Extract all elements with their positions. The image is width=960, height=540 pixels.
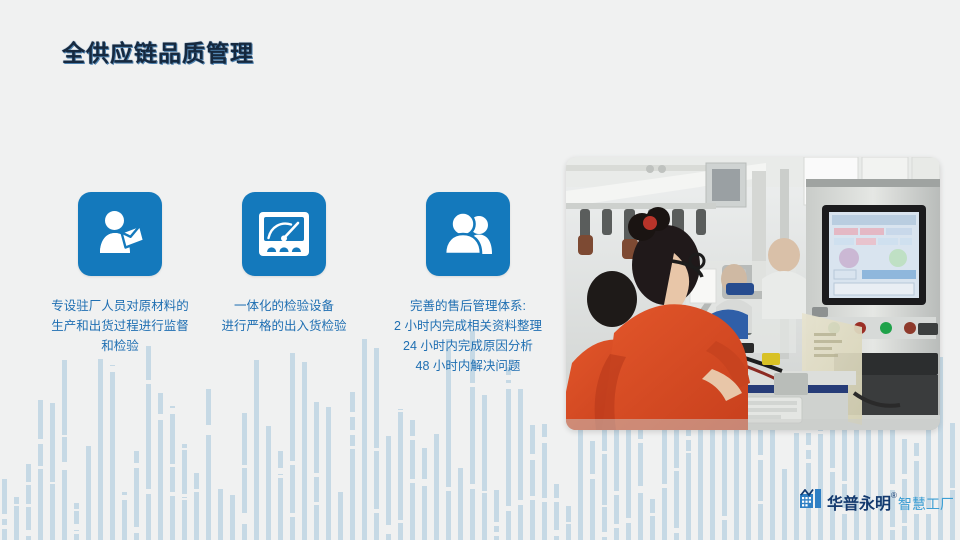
decorative-bar-gap <box>674 468 679 471</box>
registered-mark: ® <box>891 489 897 501</box>
decorative-bar <box>338 492 343 540</box>
decorative-bar-gap <box>494 532 499 536</box>
decorative-bar-gap <box>638 489 643 493</box>
decorative-bar-gap <box>482 491 487 493</box>
decorative-bar <box>398 409 403 540</box>
feature-caption: 一体化的检验设备 进行严格的出入货检验 <box>200 296 368 336</box>
decorative-bar-gap <box>62 465 67 470</box>
decorative-bar-gap <box>446 487 451 491</box>
decorative-bar-gap <box>470 484 475 489</box>
decorative-bar <box>590 441 595 540</box>
decorative-bar <box>386 436 391 540</box>
decorative-bar <box>326 407 331 540</box>
decorative-bar-gap <box>290 461 295 465</box>
decorative-bar-gap <box>506 506 511 511</box>
decorative-bar-gap <box>314 502 319 505</box>
decorative-bar-gap <box>506 383 511 389</box>
decorative-bar-gap <box>170 492 175 496</box>
decorative-bar-gap <box>542 437 547 443</box>
decorative-bar <box>374 348 379 540</box>
gauge-meter-icon <box>242 192 326 276</box>
decorative-bar <box>554 484 559 540</box>
decorative-bar-gap <box>398 520 403 523</box>
decorative-bar-gap <box>422 481 427 485</box>
decorative-bar-gap <box>74 524 79 530</box>
decorative-bar-gap <box>50 482 55 484</box>
huapu-building-mark-icon <box>800 489 822 513</box>
decorative-bar <box>410 420 415 540</box>
decorative-bar <box>578 430 583 540</box>
decorative-bar-gap <box>650 513 655 516</box>
decorative-bar-gap <box>242 513 247 519</box>
feature-caption: 完善的售后管理体系: 2 小时内完成相关资料整理 24 小时内完成原因分析 48… <box>368 296 568 376</box>
decorative-bar <box>242 413 247 540</box>
decorative-bar-gap <box>422 483 427 486</box>
decorative-bar-gap <box>182 498 187 500</box>
decorative-bar-gap <box>206 425 211 430</box>
decorative-bar-gap <box>758 455 763 460</box>
decorative-bar-gap <box>398 410 403 412</box>
decorative-bar <box>62 360 67 540</box>
decorative-bar <box>950 423 955 540</box>
decorative-bar-gap <box>614 524 619 528</box>
decorative-bar <box>170 406 175 540</box>
decorative-bar <box>146 346 151 540</box>
decorative-bar-gap <box>662 484 667 488</box>
decorative-bar-gap <box>542 498 547 502</box>
decorative-bar-gap <box>242 518 247 524</box>
decorative-bar <box>218 489 223 540</box>
decorative-bar <box>314 402 319 540</box>
decorative-bar-gap <box>170 464 175 467</box>
decorative-bar-gap <box>14 504 19 506</box>
decorative-bar-gap <box>638 486 643 489</box>
decorative-bar-gap <box>374 509 379 513</box>
decorative-bar <box>86 446 91 540</box>
decorative-bar <box>530 425 535 540</box>
decorative-bar-gap <box>74 531 79 534</box>
decorative-bar <box>230 495 235 540</box>
decorative-bar-gap <box>470 484 475 488</box>
decorative-bar-gap <box>62 435 67 437</box>
decorative-bar <box>350 392 355 540</box>
decorative-bar-gap <box>842 481 847 484</box>
decorative-bar-gap <box>134 463 139 468</box>
decorative-bar <box>794 433 799 540</box>
decorative-bar-gap <box>626 518 631 523</box>
page-title: 全供应链品质管理 <box>62 34 254 68</box>
decorative-bar <box>638 423 643 540</box>
decorative-bar-gap <box>902 523 907 526</box>
decorative-bar-gap <box>758 501 763 504</box>
decorative-bar-gap <box>830 468 835 472</box>
decorative-bar-gap <box>290 513 295 517</box>
decorative-bar-gap <box>422 479 427 484</box>
decorative-bar-gap <box>602 451 607 454</box>
decorative-bar-gap <box>182 448 187 450</box>
decorative-bar-gap <box>278 468 283 473</box>
brand-name: 华普永明 <box>827 496 891 513</box>
decorative-bar <box>782 469 787 540</box>
decorative-bar-gap <box>374 448 379 451</box>
decorative-bar-gap <box>74 509 79 511</box>
decorative-bar <box>518 389 523 540</box>
two-people-icon <box>426 192 510 276</box>
decorative-bar <box>194 473 199 540</box>
decorative-bar-gap <box>602 505 607 507</box>
decorative-bar-gap <box>314 473 319 477</box>
decorative-bar <box>254 360 259 540</box>
decorative-bar-gap <box>26 504 31 507</box>
decorative-bar-gap <box>242 465 247 468</box>
decorative-bar <box>482 395 487 540</box>
decorative-bar-gap <box>194 489 199 492</box>
decorative-bar <box>158 393 163 540</box>
decorative-bar <box>26 464 31 540</box>
decorative-bar-gap <box>590 474 595 479</box>
decorative-bar-gap <box>554 530 559 535</box>
decorative-bar-gap <box>26 482 31 485</box>
decorative-bar <box>38 400 43 540</box>
person-inspecting-document-icon <box>78 192 162 276</box>
decorative-bar-gap <box>530 458 535 460</box>
decorative-bar-gap <box>554 531 559 536</box>
decorative-bar-gap <box>494 522 499 526</box>
decorative-bar <box>494 490 499 540</box>
decorative-bar-gap <box>182 494 187 497</box>
decorative-bar-gap <box>554 498 559 502</box>
decorative-bar-gap <box>722 516 727 520</box>
decorative-bar <box>302 362 307 540</box>
decorative-bar-gap <box>110 366 115 372</box>
decorative-bar-gap <box>890 527 895 530</box>
decorative-bar-gap <box>350 430 355 435</box>
decorative-bar-gap <box>806 459 811 463</box>
decorative-bar-gap <box>902 474 907 479</box>
decorative-bar-gap <box>614 491 619 495</box>
decorative-bar <box>290 353 295 540</box>
decorative-bar <box>266 426 271 540</box>
decorative-bar-gap <box>386 530 391 534</box>
decorative-bar <box>362 339 367 540</box>
decorative-bar-gap <box>806 445 811 450</box>
decorative-bar-gap <box>62 462 67 465</box>
decorative-bar <box>182 444 187 540</box>
decorative-bar-gap <box>638 439 643 443</box>
decorative-bar-gap <box>386 525 391 530</box>
brand-subtitle: 智慧工厂 <box>898 496 954 513</box>
decorative-bar-gap <box>410 436 415 440</box>
decorative-bar <box>422 448 427 540</box>
decorative-bar-gap <box>410 479 415 483</box>
decorative-bar-gap <box>518 500 523 505</box>
decorative-bar <box>74 503 79 540</box>
slide-canvas: 全供应链品质管理 专设驻厂人员对原材料的 生产和出货过程进行监督 和检验 <box>0 0 960 540</box>
decorative-bar-gap <box>170 408 175 414</box>
decorative-bar-gap <box>386 526 391 532</box>
factory-inspection-photo <box>566 157 940 430</box>
decorative-bar <box>206 389 211 540</box>
decorative-bar-gap <box>2 514 7 519</box>
decorative-bar-gap <box>350 412 355 417</box>
decorative-bar <box>2 479 7 540</box>
decorative-bar-gap <box>686 436 691 440</box>
feature-caption: 专设驻厂人员对原材料的 生产和出货过程进行监督 和检验 <box>18 296 222 356</box>
decorative-bar-gap <box>38 439 43 444</box>
decorative-bar-gap <box>914 456 919 461</box>
decorative-bar <box>98 359 103 540</box>
decorative-bar-gap <box>26 530 31 536</box>
decorative-bar <box>278 451 283 540</box>
decorative-bar-gap <box>470 383 475 387</box>
decorative-bar-gap <box>122 495 127 500</box>
decorative-bar-gap <box>530 454 535 458</box>
decorative-bar-gap <box>146 380 151 384</box>
decorative-bar-gap <box>278 471 283 474</box>
decorative-bar-gap <box>674 528 679 533</box>
decorative-bar <box>14 497 19 540</box>
decorative-bar-gap <box>38 466 43 469</box>
decorative-bar <box>506 367 511 540</box>
decorative-bar <box>566 506 571 540</box>
decorative-bar-gap <box>818 431 823 434</box>
decorative-bar <box>662 412 667 540</box>
decorative-bar-gap <box>206 430 211 435</box>
decorative-bar <box>122 492 127 540</box>
decorative-bar <box>110 365 115 540</box>
decorative-bar-gap <box>134 527 139 533</box>
decorative-bar-gap <box>350 446 355 449</box>
decorative-bar <box>458 468 463 540</box>
decorative-bar-gap <box>146 489 151 494</box>
decorative-bar-gap <box>2 525 7 529</box>
decorative-bar-gap <box>278 475 283 478</box>
decorative-bar <box>542 424 547 540</box>
feature-block-after-sales: 完善的售后管理体系: 2 小时内完成相关资料整理 24 小时内完成原因分析 48… <box>368 192 568 376</box>
decorative-bar-gap <box>158 414 163 420</box>
decorative-bar <box>650 499 655 540</box>
decorative-bar-gap <box>686 451 691 453</box>
decorative-bar-gap <box>602 532 607 537</box>
decorative-bar <box>434 434 439 540</box>
brand-logo: 华普永明 ® 智慧工厂 <box>800 489 954 513</box>
feature-block-supplier-supervision: 专设驻厂人员对原材料的 生产和出货过程进行监督 和检验 <box>18 192 222 356</box>
decorative-bar-gap <box>566 522 571 524</box>
decorative-bar <box>134 451 139 540</box>
feature-block-inspection-equipment: 一体化的检验设备 进行严格的出入货检验 <box>200 192 368 336</box>
decorative-bar <box>50 403 55 540</box>
decorative-bar-gap <box>530 496 535 500</box>
